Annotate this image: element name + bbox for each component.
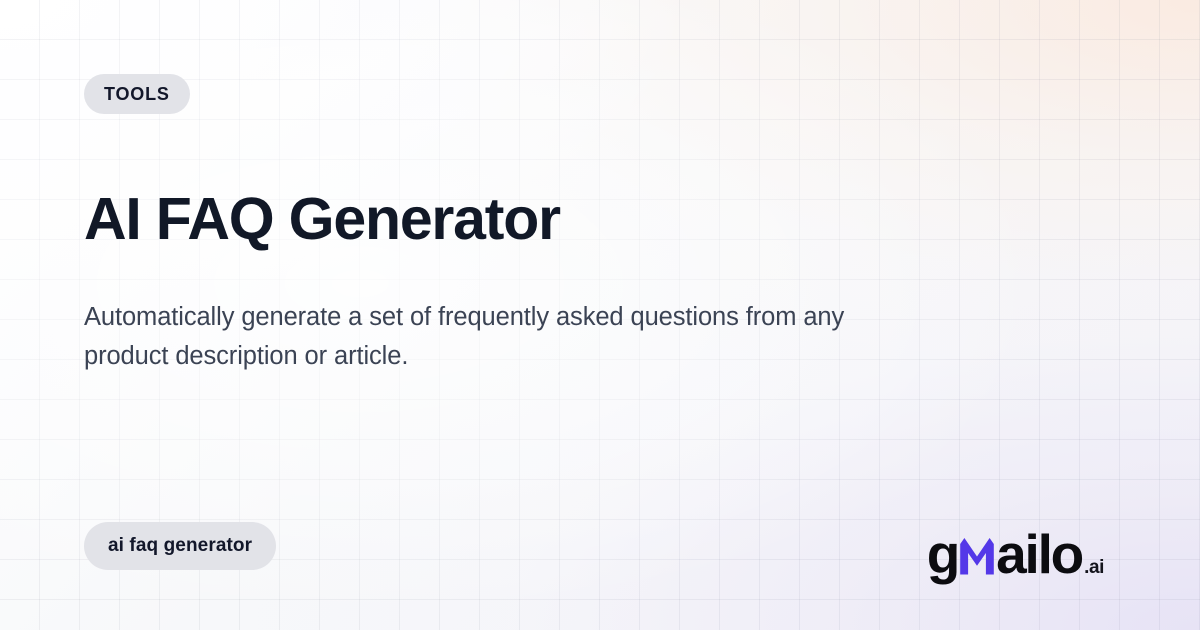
brand-word-part2: ailo	[996, 527, 1082, 582]
page-subtitle: Automatically generate a set of frequent…	[84, 298, 904, 376]
page-title: AI FAQ Generator	[84, 186, 560, 252]
brand-m-mark-icon	[957, 534, 997, 574]
brand-logo: g ailo .ai	[927, 527, 1104, 582]
brand-wordmark: g ailo	[927, 527, 1082, 582]
brand-suffix: .ai	[1084, 558, 1104, 577]
card-content: TOOLS AI FAQ Generator Automatically gen…	[0, 0, 1200, 630]
og-card: TOOLS AI FAQ Generator Automatically gen…	[0, 0, 1200, 630]
category-badge: TOOLS	[84, 74, 190, 114]
brand-word-part1: g	[927, 527, 958, 582]
keyword-tag-pill: ai faq generator	[84, 522, 276, 570]
